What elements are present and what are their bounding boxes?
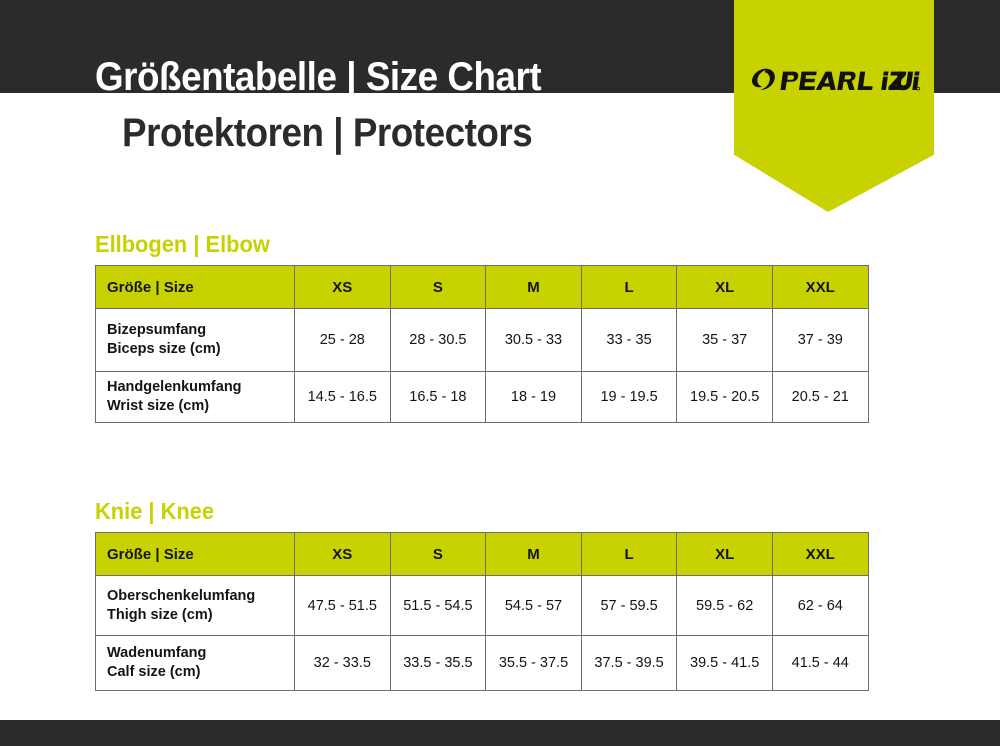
column-header-xs: XS	[295, 266, 391, 309]
row-label: Oberschenkelumfang Thigh size (cm)	[96, 576, 295, 636]
cell-value: 37 - 39	[772, 309, 868, 372]
table-header-row: Größe | Size XS S M L XL XXL	[96, 533, 869, 576]
section-heading-knee: Knie | Knee	[95, 498, 214, 525]
row-label: Bizepsumfang Biceps size (cm)	[96, 309, 295, 372]
row-label-de: Wadenumfang	[107, 644, 294, 663]
cell-value: 35 - 37	[677, 309, 773, 372]
table-row: Bizepsumfang Biceps size (cm) 25 - 28 28…	[96, 309, 869, 372]
page-title-primary: Größentabelle | Size Chart	[95, 57, 541, 97]
row-label-de: Oberschenkelumfang	[107, 587, 294, 606]
row-label-en: Calf size (cm)	[107, 663, 294, 682]
column-header-xxl: XXL	[772, 266, 868, 309]
column-header-xl: XL	[677, 266, 773, 309]
cell-value: 39.5 - 41.5	[677, 636, 773, 691]
size-table-knee: Größe | Size XS S M L XL XXL Oberschenke…	[95, 532, 869, 691]
row-label-de: Handgelenkumfang	[107, 378, 294, 397]
column-header-label: Größe | Size	[96, 266, 295, 309]
footer-bar	[0, 720, 1000, 746]
cell-value: 18 - 19	[486, 372, 582, 423]
cell-value: 28 - 30.5	[390, 309, 486, 372]
cell-value: 59.5 - 62	[677, 576, 773, 636]
row-label-en: Biceps size (cm)	[107, 340, 294, 359]
page-title-secondary: Protektoren | Protectors	[122, 113, 532, 153]
pearl-izumi-logo-icon	[748, 64, 920, 98]
cell-value: 54.5 - 57	[486, 576, 582, 636]
column-header-xs: XS	[295, 533, 391, 576]
table-row: Oberschenkelumfang Thigh size (cm) 47.5 …	[96, 576, 869, 636]
size-chart-page: Größentabelle | Size Chart Größentabelle…	[0, 0, 1000, 746]
section-heading-elbow: Ellbogen | Elbow	[95, 231, 270, 258]
row-label: Wadenumfang Calf size (cm)	[96, 636, 295, 691]
cell-value: 30.5 - 33	[486, 309, 582, 372]
cell-value: 35.5 - 37.5	[486, 636, 582, 691]
column-header-s: S	[390, 533, 486, 576]
cell-value: 57 - 59.5	[581, 576, 677, 636]
column-header-m: M	[486, 266, 582, 309]
column-header-label: Größe | Size	[96, 533, 295, 576]
column-header-xl: XL	[677, 533, 773, 576]
row-label-de: Bizepsumfang	[107, 321, 294, 340]
cell-value: 33.5 - 35.5	[390, 636, 486, 691]
cell-value: 16.5 - 18	[390, 372, 486, 423]
column-header-s: S	[390, 266, 486, 309]
row-label: Handgelenkumfang Wrist size (cm)	[96, 372, 295, 423]
cell-value: 25 - 28	[295, 309, 391, 372]
table-row: Handgelenkumfang Wrist size (cm) 14.5 - …	[96, 372, 869, 423]
table-header-row: Größe | Size XS S M L XL XXL	[96, 266, 869, 309]
column-header-l: L	[581, 533, 677, 576]
cell-value: 37.5 - 39.5	[581, 636, 677, 691]
cell-value: 14.5 - 16.5	[295, 372, 391, 423]
cell-value: 33 - 35	[581, 309, 677, 372]
cell-value: 19 - 19.5	[581, 372, 677, 423]
table-row: Wadenumfang Calf size (cm) 32 - 33.5 33.…	[96, 636, 869, 691]
row-label-en: Wrist size (cm)	[107, 397, 294, 416]
cell-value: 32 - 33.5	[295, 636, 391, 691]
cell-value: 51.5 - 54.5	[390, 576, 486, 636]
cell-value: 47.5 - 51.5	[295, 576, 391, 636]
cell-value: 62 - 64	[772, 576, 868, 636]
column-header-l: L	[581, 266, 677, 309]
size-table-elbow: Größe | Size XS S M L XL XXL Bizepsumfan…	[95, 265, 869, 423]
brand-banner	[734, 0, 934, 212]
page-title-block: Größentabelle | Size Chart Größentabelle…	[0, 0, 700, 175]
cell-value: 20.5 - 21	[772, 372, 868, 423]
cell-value: 41.5 - 44	[772, 636, 868, 691]
column-header-m: M	[486, 533, 582, 576]
column-header-xxl: XXL	[772, 533, 868, 576]
cell-value: 19.5 - 20.5	[677, 372, 773, 423]
row-label-en: Thigh size (cm)	[107, 606, 294, 625]
